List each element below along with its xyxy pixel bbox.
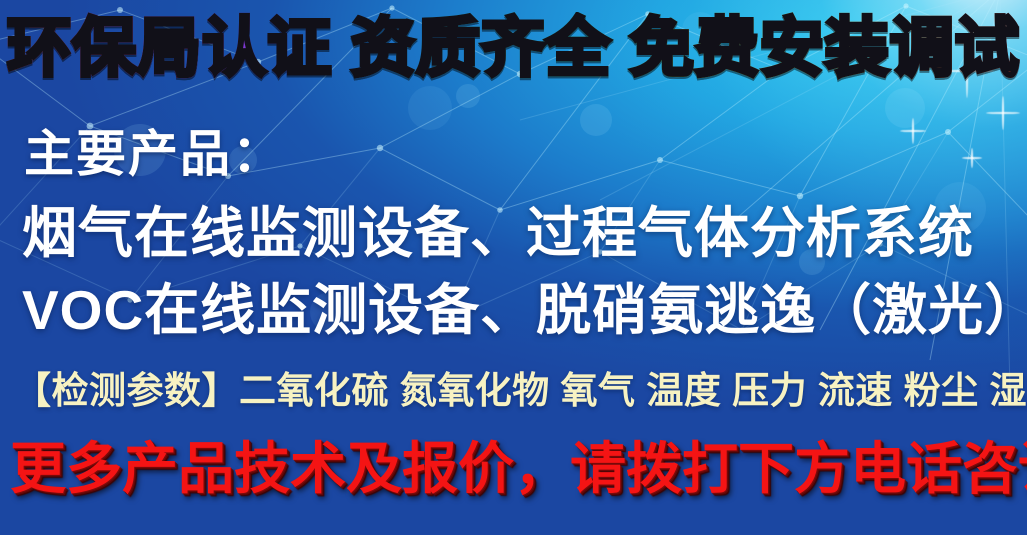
main-products-label: 主要产品： [24, 114, 284, 186]
headline-text: 环保局认证 资质齐全 免费安装调试 [7, 12, 1020, 84]
promo-poster: 环保局认证 资质齐全 免费安装调试 主要产品： 烟气在线监测设备、过程气体分析系… [0, 0, 1027, 535]
product-line-voc: VOC在线监测设备、脱硝氨逃逸（激光） [22, 265, 1027, 345]
poster-content: 环保局认证 资质齐全 免费安装调试 主要产品： 烟气在线监测设备、过程气体分析系… [0, 0, 1027, 535]
headline-banner: 环保局认证 资质齐全 免费安装调试 [0, 16, 1027, 80]
product-line-flue-gas: 烟气在线监测设备、过程气体分析系统 [22, 188, 974, 268]
detection-parameters-line: 【检测参数】二氧化硫 氮氧化物 氧气 温度 压力 流速 粉尘 湿度等 [14, 360, 1027, 414]
call-to-action-line: 更多产品技术及报价，请拨打下方电话咨询 [10, 424, 1027, 505]
